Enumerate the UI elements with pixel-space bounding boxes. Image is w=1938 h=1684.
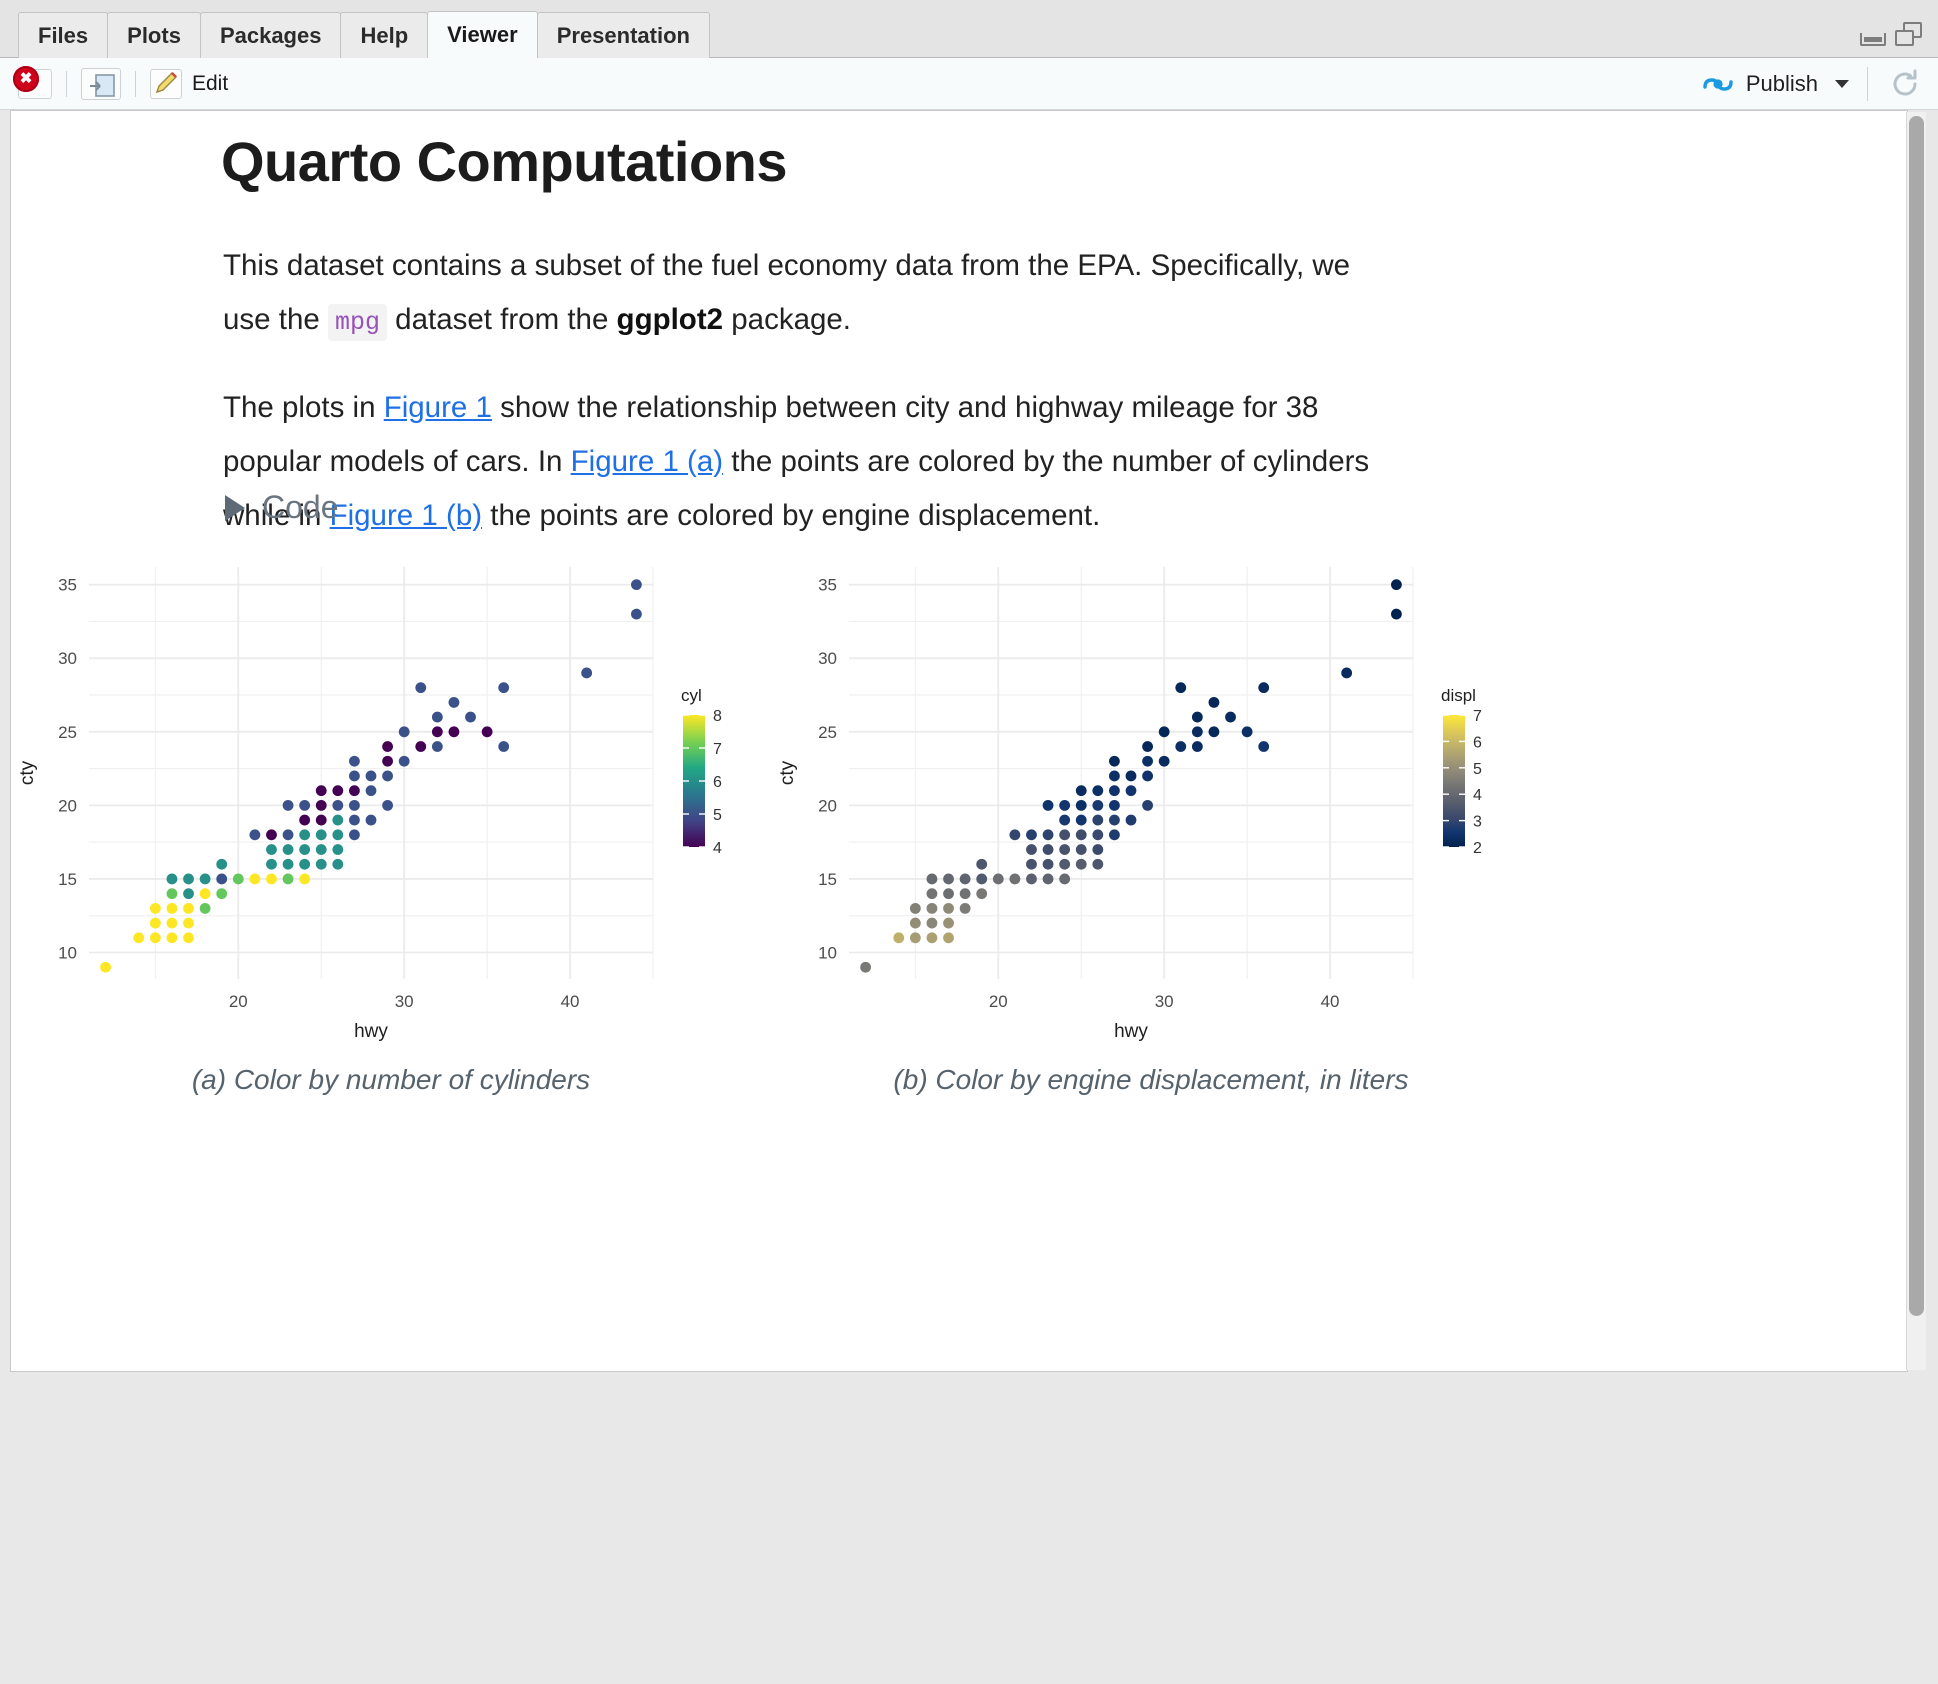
data-point: [976, 874, 987, 885]
svg-text:cty: cty: [17, 760, 38, 785]
para1-mid: dataset from the: [387, 303, 617, 336]
chevron-down-icon[interactable]: [1835, 80, 1849, 88]
data-point: [960, 874, 971, 885]
data-point: [183, 918, 194, 929]
data-point: [249, 874, 260, 885]
svg-text:20: 20: [58, 796, 77, 815]
viewer-scrollbar[interactable]: [1906, 112, 1926, 1370]
scrollbar-thumb[interactable]: [1909, 116, 1924, 1316]
data-point: [1076, 829, 1087, 840]
maximize-pane-icon[interactable]: [1895, 22, 1922, 46]
data-point: [1092, 859, 1103, 870]
data-point: [1076, 785, 1087, 796]
data-point: [1159, 726, 1170, 737]
svg-text:35: 35: [58, 576, 77, 595]
svg-text:displ: displ: [1441, 686, 1476, 705]
data-point: [927, 903, 938, 914]
figure-1: 101520253035203040hwyctycyl45678 (a) Col…: [11, 551, 1883, 1096]
data-point: [943, 903, 954, 914]
data-point: [1126, 815, 1137, 826]
data-point: [1092, 815, 1103, 826]
data-point: [382, 771, 393, 782]
data-point: [1092, 844, 1103, 855]
svg-text:hwy: hwy: [354, 1021, 388, 1042]
data-point: [299, 800, 310, 811]
data-point: [299, 859, 310, 870]
data-point: [316, 815, 327, 826]
tab-help[interactable]: Help: [340, 12, 428, 58]
data-point: [976, 888, 987, 899]
data-point: [316, 859, 327, 870]
data-point: [349, 785, 360, 796]
svg-text:30: 30: [818, 649, 837, 668]
data-point: [299, 874, 310, 885]
svg-text:25: 25: [818, 723, 837, 742]
figure-row: 101520253035203040hwyctycyl45678 (a) Col…: [11, 551, 1883, 1096]
data-point: [200, 874, 211, 885]
publish-icon: [1701, 70, 1735, 98]
pane-tabstrip: FilesPlotsPackagesHelpViewerPresentation: [0, 0, 1938, 58]
figure-cell-b: 101520253035203040hwyctydispl234567 (b) …: [771, 551, 1531, 1096]
svg-text:6: 6: [713, 774, 722, 791]
data-point: [1092, 829, 1103, 840]
data-point: [432, 712, 443, 723]
data-point: [1258, 741, 1269, 752]
tab-packages[interactable]: Packages: [200, 12, 342, 58]
data-point: [316, 844, 327, 855]
data-point: [498, 741, 509, 752]
svg-text:30: 30: [1155, 992, 1174, 1011]
data-point: [943, 918, 954, 929]
data-point: [1109, 771, 1120, 782]
data-point: [382, 741, 393, 752]
data-point: [1175, 682, 1186, 693]
data-point: [976, 859, 987, 870]
svg-text:20: 20: [989, 992, 1008, 1011]
scatter-plot-displ: 101520253035203040hwyctydispl234567: [771, 551, 1531, 1056]
data-point: [1391, 609, 1402, 620]
svg-text:40: 40: [1321, 992, 1340, 1011]
svg-text:35: 35: [818, 576, 837, 595]
data-point: [332, 785, 343, 796]
stop-icon[interactable]: [18, 69, 52, 99]
data-point: [1341, 668, 1352, 679]
subcaption-a: (a) Color by number of cylinders: [11, 1064, 771, 1096]
data-point: [910, 918, 921, 929]
data-point: [1192, 712, 1203, 723]
publish-button[interactable]: Publish: [1701, 70, 1849, 98]
svg-text:4: 4: [713, 840, 722, 857]
legend-colorbar: [1443, 715, 1465, 847]
svg-text:8: 8: [713, 708, 722, 725]
link-figure-1b[interactable]: Figure 1 (b): [330, 499, 482, 532]
data-point: [1175, 741, 1186, 752]
data-point: [1076, 800, 1087, 811]
data-point: [1092, 785, 1103, 796]
pencil-icon: [150, 69, 182, 99]
data-point: [249, 829, 260, 840]
data-point: [1192, 741, 1203, 752]
data-point: [1109, 815, 1120, 826]
data-point: [399, 726, 410, 737]
plot-svg-fig-a: 101520253035203040hwyctycyl45678: [11, 551, 771, 1051]
svg-text:cyl: cyl: [681, 686, 702, 705]
svg-text:5: 5: [713, 807, 722, 824]
svg-text:15: 15: [818, 870, 837, 889]
data-point: [1126, 771, 1137, 782]
data-point: [1009, 874, 1020, 885]
data-point: [910, 903, 921, 914]
data-point: [167, 932, 178, 943]
edit-label: Edit: [192, 72, 228, 96]
scatter-plot-cyl: 101520253035203040hwyctycyl45678: [11, 551, 771, 1056]
data-point: [449, 697, 460, 708]
data-point: [860, 962, 871, 973]
data-point: [1142, 741, 1153, 752]
svg-text:cty: cty: [777, 760, 798, 785]
viewer-toolbar: Edit Publish: [0, 58, 1938, 110]
data-point: [1391, 579, 1402, 590]
window-controls: [1860, 22, 1922, 46]
data-point: [183, 932, 194, 943]
toolbar-divider: [66, 71, 67, 97]
para2-s1: The plots in: [223, 391, 384, 424]
data-point: [1225, 712, 1236, 723]
data-point: [1126, 785, 1137, 796]
data-point: [150, 903, 161, 914]
data-point: [1059, 829, 1070, 840]
data-point: [1092, 800, 1103, 811]
data-point: [332, 815, 343, 826]
data-point: [266, 844, 277, 855]
data-point: [1142, 771, 1153, 782]
publish-label: Publish: [1746, 71, 1818, 97]
link-figure-1a[interactable]: Figure 1 (a): [571, 445, 723, 478]
data-point: [1059, 874, 1070, 885]
data-point: [266, 859, 277, 870]
subcaption-b: (b) Color by engine displacement, in lit…: [771, 1064, 1531, 1096]
data-point: [1026, 844, 1037, 855]
code-fold-label: Code: [262, 489, 339, 526]
data-point: [150, 918, 161, 929]
paragraph-figures: The plots in Figure 1 show the relations…: [223, 381, 1383, 543]
data-point: [299, 815, 310, 826]
data-point: [167, 888, 178, 899]
data-point: [316, 829, 327, 840]
data-point: [283, 874, 294, 885]
edit-button[interactable]: Edit: [150, 69, 228, 99]
data-point: [1076, 844, 1087, 855]
rstudio-viewer-pane: FilesPlotsPackagesHelpViewerPresentation: [0, 0, 1938, 1684]
triangle-right-icon: [225, 495, 245, 521]
data-point: [1142, 756, 1153, 767]
data-point: [943, 874, 954, 885]
data-point: [332, 859, 343, 870]
data-point: [1009, 829, 1020, 840]
data-point: [927, 918, 938, 929]
data-point: [183, 874, 194, 885]
link-figure-1[interactable]: Figure 1: [384, 391, 492, 424]
tab-viewer[interactable]: Viewer: [427, 11, 538, 58]
data-point: [150, 932, 161, 943]
figure-cell-a: 101520253035203040hwyctycyl45678 (a) Col…: [11, 551, 771, 1096]
data-point: [316, 800, 327, 811]
data-point: [1109, 756, 1120, 767]
data-point: [133, 932, 144, 943]
data-point: [1043, 800, 1054, 811]
data-point: [631, 609, 642, 620]
data-point: [943, 932, 954, 943]
data-point: [960, 903, 971, 914]
data-point: [183, 903, 194, 914]
data-point: [1109, 829, 1120, 840]
data-point: [960, 888, 971, 899]
data-point: [283, 844, 294, 855]
show-in-new-window-icon[interactable]: [81, 68, 121, 100]
data-point: [382, 800, 393, 811]
data-point: [1209, 726, 1220, 737]
data-point: [1242, 726, 1253, 737]
data-point: [1026, 859, 1037, 870]
code-fold-toggle[interactable]: Code: [225, 489, 339, 526]
data-point: [266, 829, 277, 840]
data-point: [1043, 829, 1054, 840]
tab-presentation[interactable]: Presentation: [537, 12, 710, 58]
data-point: [349, 771, 360, 782]
data-point: [893, 932, 904, 943]
data-point: [1026, 874, 1037, 885]
data-point: [415, 741, 426, 752]
tab-plots[interactable]: Plots: [107, 12, 201, 58]
data-point: [1076, 859, 1087, 870]
data-point: [927, 932, 938, 943]
svg-text:15: 15: [58, 870, 77, 889]
data-point: [167, 918, 178, 929]
data-point: [167, 874, 178, 885]
data-point: [216, 859, 227, 870]
data-point: [349, 815, 360, 826]
minimize-pane-icon[interactable]: [1860, 33, 1886, 46]
data-point: [299, 844, 310, 855]
para1-after: package.: [723, 303, 851, 336]
svg-text:7: 7: [1473, 708, 1482, 725]
package-name-ggplot2: ggplot2: [617, 303, 724, 336]
svg-text:3: 3: [1473, 814, 1482, 831]
page-title: Quarto Computations: [221, 129, 787, 194]
data-point: [943, 888, 954, 899]
data-point: [283, 859, 294, 870]
tab-list: FilesPlotsPackagesHelpViewerPresentation: [0, 0, 1938, 58]
data-point: [1142, 800, 1153, 811]
para2-s4: the points are colored by engine displac…: [482, 499, 1100, 532]
svg-text:20: 20: [229, 992, 248, 1011]
data-point: [1258, 682, 1269, 693]
data-point: [1076, 815, 1087, 826]
toolbar-divider-2: [135, 71, 136, 97]
tab-files[interactable]: Files: [18, 12, 108, 58]
svg-text:4: 4: [1473, 787, 1482, 804]
data-point: [415, 682, 426, 693]
data-point: [100, 962, 111, 973]
data-point: [1209, 697, 1220, 708]
svg-text:10: 10: [58, 944, 77, 963]
data-point: [482, 726, 493, 737]
data-point: [910, 932, 921, 943]
inline-code-mpg: mpg: [328, 304, 387, 341]
data-point: [200, 888, 211, 899]
data-point: [366, 785, 377, 796]
data-point: [382, 756, 393, 767]
data-point: [498, 682, 509, 693]
data-point: [1026, 829, 1037, 840]
data-point: [1043, 844, 1054, 855]
data-point: [1192, 726, 1203, 737]
data-point: [581, 668, 592, 679]
data-point: [927, 888, 938, 899]
data-point: [1109, 800, 1120, 811]
data-point: [167, 903, 178, 914]
refresh-icon[interactable]: [1867, 67, 1922, 101]
data-point: [316, 785, 327, 796]
data-point: [1059, 859, 1070, 870]
data-point: [1109, 785, 1120, 796]
data-point: [1059, 844, 1070, 855]
svg-text:6: 6: [1473, 734, 1482, 751]
data-point: [432, 726, 443, 737]
data-point: [1059, 815, 1070, 826]
data-point: [927, 874, 938, 885]
data-point: [332, 829, 343, 840]
data-point: [349, 829, 360, 840]
data-point: [332, 800, 343, 811]
data-point: [349, 800, 360, 811]
svg-text:5: 5: [1473, 761, 1482, 778]
data-point: [399, 756, 410, 767]
svg-text:hwy: hwy: [1114, 1021, 1148, 1042]
svg-text:10: 10: [818, 944, 837, 963]
data-point: [266, 874, 277, 885]
data-point: [183, 888, 194, 899]
data-point: [449, 726, 460, 737]
data-point: [1043, 874, 1054, 885]
data-point: [465, 712, 476, 723]
data-point: [1159, 756, 1170, 767]
data-point: [631, 579, 642, 590]
data-point: [200, 903, 211, 914]
svg-text:30: 30: [395, 992, 414, 1011]
data-point: [233, 874, 244, 885]
viewer-content: Quarto Computations This dataset contain…: [10, 110, 1908, 1372]
data-point: [332, 844, 343, 855]
plot-svg-fig-b: 101520253035203040hwyctydispl234567: [771, 551, 1531, 1051]
svg-text:2: 2: [1473, 840, 1482, 857]
data-point: [993, 874, 1004, 885]
paragraph-intro: This dataset contains a subset of the fu…: [223, 239, 1383, 350]
svg-text:25: 25: [58, 723, 77, 742]
data-point: [299, 829, 310, 840]
data-point: [366, 815, 377, 826]
data-point: [432, 741, 443, 752]
data-point: [1043, 859, 1054, 870]
data-point: [216, 888, 227, 899]
data-point: [349, 756, 360, 767]
svg-text:30: 30: [58, 649, 77, 668]
data-point: [1059, 800, 1070, 811]
svg-text:7: 7: [713, 741, 722, 758]
data-point: [366, 771, 377, 782]
svg-text:40: 40: [561, 992, 580, 1011]
data-point: [216, 874, 227, 885]
svg-text:20: 20: [818, 796, 837, 815]
data-point: [283, 829, 294, 840]
data-point: [283, 800, 294, 811]
